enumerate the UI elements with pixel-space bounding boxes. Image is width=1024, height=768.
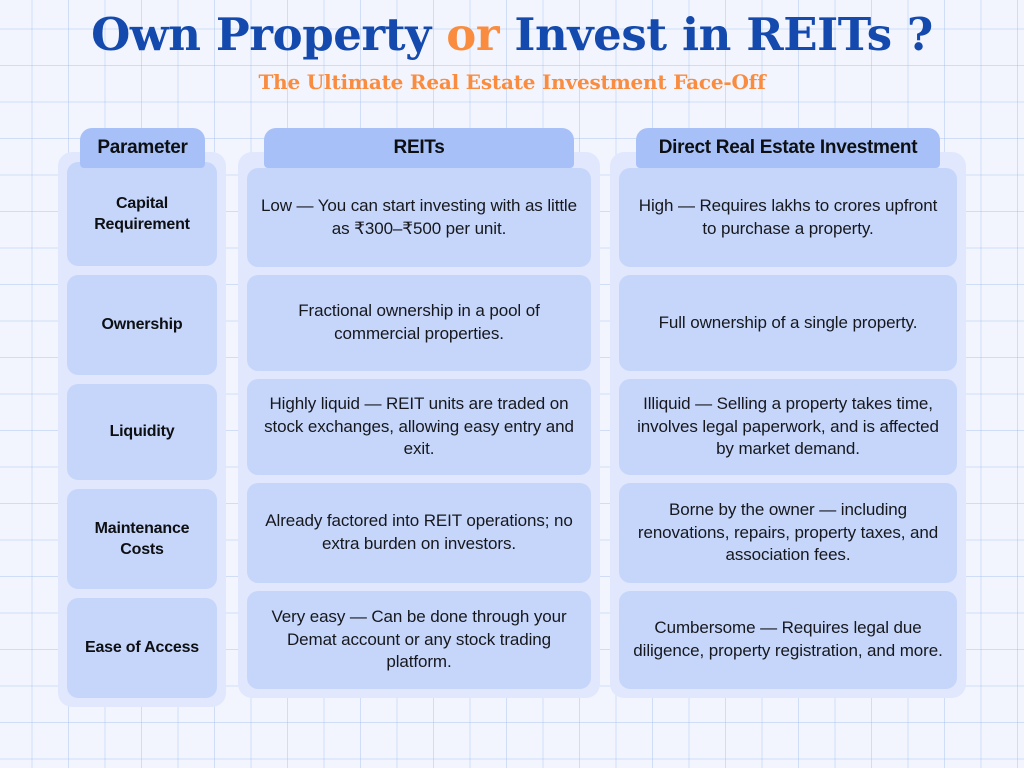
column-panel-reits: Low — You can start investing with as li… [238,152,600,698]
direct-cell-capital-requirement: High — Requires lakhs to crores upfront … [619,168,957,267]
reits-cell-ease-of-access: Very easy — Can be done through your Dem… [247,591,591,689]
parameter-cell-maintenance-costs: Maintenance Costs [67,489,217,589]
direct-cell-ownership: Full ownership of a single property. [619,275,957,371]
column-header-parameter: Parameter [80,128,205,168]
parameter-cell-ease-of-access: Ease of Access [67,598,217,698]
column-header-label-direct-real-estate: Direct Real Estate Investment [659,137,917,159]
parameter-cell-capital-requirement: Capital Requirement [67,162,217,266]
infographic-page: Own Property or Invest in REITs ? The Ul… [0,0,1024,768]
column-header-label-parameter: Parameter [97,137,187,159]
column-header-reits: REITs [264,128,574,168]
reits-cell-liquidity: Highly liquid — REIT units are traded on… [247,379,591,475]
direct-cell-liquidity: Illiquid — Selling a property takes time… [619,379,957,475]
parameter-cell-ownership: Ownership [67,275,217,375]
column-header-direct-real-estate: Direct Real Estate Investment [636,128,940,168]
direct-cell-ease-of-access: Cumbersome — Requires legal due diligenc… [619,591,957,689]
parameter-cell-liquidity: Liquidity [67,384,217,480]
reits-cell-ownership: Fractional ownership in a pool of commer… [247,275,591,371]
comparison-table: Capital Requirement Ownership Liquidity … [0,0,1024,768]
column-panel-parameter: Capital Requirement Ownership Liquidity … [58,152,226,707]
reits-cell-capital-requirement: Low — You can start investing with as li… [247,168,591,267]
direct-cell-maintenance-costs: Borne by the owner — including renovatio… [619,483,957,583]
column-panel-direct-real-estate: High — Requires lakhs to crores upfront … [610,152,966,698]
reits-cell-maintenance-costs: Already factored into REIT operations; n… [247,483,591,583]
column-header-label-reits: REITs [394,137,445,159]
